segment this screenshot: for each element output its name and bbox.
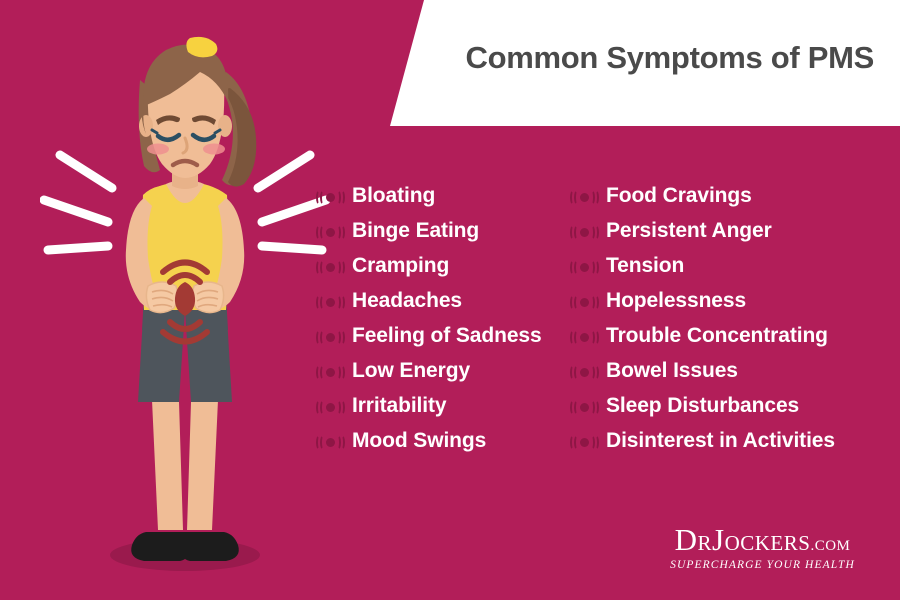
symptoms-lists: Bloating Binge Eating Cramping Headaches xyxy=(0,0,900,600)
symptom-label: Hopelessness xyxy=(606,287,746,314)
radiating-dot-icon xyxy=(316,328,344,348)
list-item: Cramping xyxy=(316,252,566,285)
radiating-dot-icon xyxy=(570,258,598,278)
logo-j: J xyxy=(712,522,725,557)
list-item: Food Cravings xyxy=(570,182,890,215)
logo-dotcom: .COM xyxy=(810,538,850,554)
logo-wordmark: DRJOCKERS.COM xyxy=(650,524,875,562)
list-item: Disinterest in Activities xyxy=(570,427,890,460)
radiating-dot-icon xyxy=(316,363,344,383)
symptom-label: Bloating xyxy=(352,182,435,209)
radiating-dot-icon xyxy=(316,293,344,313)
symptom-label: Bowel Issues xyxy=(606,357,738,384)
radiating-dot-icon xyxy=(570,363,598,383)
symptom-label: Food Cravings xyxy=(606,182,752,209)
radiating-dot-icon xyxy=(570,398,598,418)
list-item: Headaches xyxy=(316,287,566,320)
symptom-label: Cramping xyxy=(352,252,449,279)
list-item: Mood Swings xyxy=(316,427,566,460)
radiating-dot-icon xyxy=(316,258,344,278)
symptom-label: Sleep Disturbances xyxy=(606,392,799,419)
symptom-label: Tension xyxy=(606,252,684,279)
radiating-dot-icon xyxy=(316,188,344,208)
symptom-label: Low Energy xyxy=(352,357,470,384)
list-item: Feeling of Sadness xyxy=(316,322,566,355)
radiating-dot-icon xyxy=(570,223,598,243)
list-item: Bowel Issues xyxy=(570,357,890,390)
logo-r: R xyxy=(698,531,713,555)
symptom-label: Persistent Anger xyxy=(606,217,772,244)
radiating-dot-icon xyxy=(316,223,344,243)
radiating-dot-icon xyxy=(316,398,344,418)
infographic-canvas: Common Symptoms of PMS Bloating Binge Ea… xyxy=(0,0,900,600)
list-item: Trouble Concentrating xyxy=(570,322,890,355)
radiating-dot-icon xyxy=(570,433,598,453)
symptoms-right-column: Food Cravings Persistent Anger Tension H… xyxy=(570,182,890,462)
list-item: Low Energy xyxy=(316,357,566,390)
list-item: Hopelessness xyxy=(570,287,890,320)
list-item: Irritability xyxy=(316,392,566,425)
radiating-dot-icon xyxy=(570,293,598,313)
symptom-label: Irritability xyxy=(352,392,447,419)
list-item: Bloating xyxy=(316,182,566,215)
symptom-label: Mood Swings xyxy=(352,427,486,454)
logo-tagline: SUPERCHARGE YOUR HEALTH xyxy=(650,559,875,571)
list-item: Tension xyxy=(570,252,890,285)
symptom-label: Headaches xyxy=(352,287,462,314)
drjockers-logo[interactable]: DRJOCKERS.COM SUPERCHARGE YOUR HEALTH xyxy=(650,524,875,571)
symptom-label: Trouble Concentrating xyxy=(606,322,828,349)
symptom-label: Disinterest in Activities xyxy=(606,427,835,454)
list-item: Persistent Anger xyxy=(570,217,890,250)
radiating-dot-icon xyxy=(570,188,598,208)
radiating-dot-icon xyxy=(316,433,344,453)
list-item: Sleep Disturbances xyxy=(570,392,890,425)
radiating-dot-icon xyxy=(570,328,598,348)
list-item: Binge Eating xyxy=(316,217,566,250)
symptom-label: Feeling of Sadness xyxy=(352,322,542,349)
logo-d: D xyxy=(675,522,698,557)
symptom-label: Binge Eating xyxy=(352,217,479,244)
symptoms-left-column: Bloating Binge Eating Cramping Headaches xyxy=(316,182,566,462)
logo-ockers: OCKERS xyxy=(725,531,811,555)
